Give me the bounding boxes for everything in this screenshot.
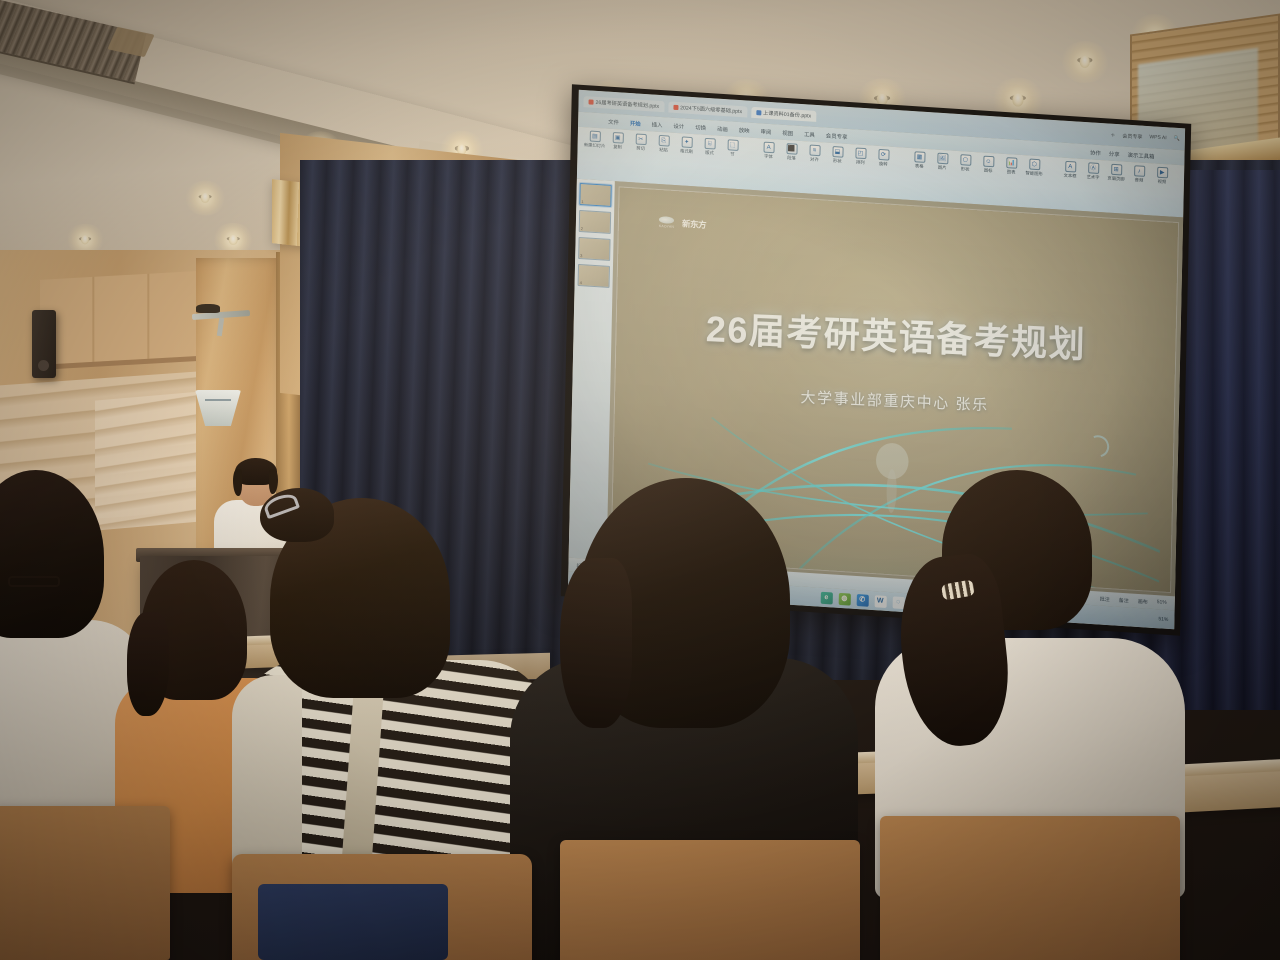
ribbon-button-label: 粘贴 bbox=[659, 147, 668, 154]
ribbon-icon: ⬛ bbox=[786, 143, 797, 155]
slide-logos: KAOYAN 新东方 bbox=[658, 216, 706, 231]
ribbon-button-0-6[interactable]: ⬚节 bbox=[722, 139, 742, 158]
slide-thumbnail-number: 4 bbox=[580, 280, 582, 285]
ribbon-icon: ▦ bbox=[914, 151, 925, 163]
ribbon-button-label: 字体 bbox=[764, 154, 773, 161]
ribbon-icon: ✦ bbox=[681, 136, 692, 148]
ribbon-button-label: 智能图形 bbox=[1025, 170, 1042, 177]
ribbon-button-0-2[interactable]: ✂剪切 bbox=[630, 133, 650, 152]
student-2-ponytail bbox=[127, 612, 169, 716]
wps-tab-0[interactable]: 26届考研英语备考规划.pptx bbox=[583, 96, 664, 112]
wps-tab-label: 2024下5面六级零基础.pptx bbox=[680, 104, 742, 115]
ribbon-button-label: 格式刷 bbox=[680, 148, 693, 155]
ribbon-button-1-4[interactable]: ◰排列 bbox=[850, 147, 870, 166]
ribbon-button-2-3[interactable]: ☺图标 bbox=[978, 155, 998, 174]
ribbon-icon: ⎘ bbox=[658, 135, 669, 147]
ribbon-tab-right-0[interactable]: 协作 bbox=[1090, 148, 1101, 157]
ribbon-button-3-0[interactable]: A文本框 bbox=[1060, 161, 1080, 180]
ribbon-button-label: 表格 bbox=[915, 163, 924, 170]
logo-secondary-text: 新东方 bbox=[682, 218, 706, 230]
slide-thumbnail-2[interactable]: 2 bbox=[579, 210, 611, 234]
ribbon-icon: A bbox=[1065, 161, 1076, 173]
wps-tab-1[interactable]: 2024下5面六级零基础.pptx bbox=[668, 101, 747, 117]
wps-tab-2[interactable]: 上课资料01备份.pptx bbox=[751, 106, 816, 121]
ribbon-button-label: 图片 bbox=[938, 165, 947, 172]
ribbon-tab-7[interactable]: 审阅 bbox=[760, 127, 771, 136]
ribbon-icon: ⬠ bbox=[960, 154, 971, 166]
ribbon-button-label: 新建幻灯片 bbox=[584, 142, 606, 149]
ribbon-icon: ⌸ bbox=[704, 138, 715, 150]
ribbon-button-1-0[interactable]: A字体 bbox=[758, 141, 778, 160]
ribbon-separator bbox=[1179, 170, 1180, 212]
ribbon-tab-1[interactable]: 开始 bbox=[630, 119, 641, 128]
ceiling-light-icon bbox=[185, 181, 225, 216]
ribbon-group-2: ▦表格🖼图片⬠形状☺图标📊图表⬡智能图形 bbox=[906, 151, 1047, 178]
lecture-hall-photo: 26届考研英语备考规划.pptx 2024下5面六级零基础.pptx 上课资料0… bbox=[0, 0, 1280, 960]
speaker-icon bbox=[32, 310, 56, 378]
ribbon-icon: ⬡ bbox=[1029, 159, 1040, 171]
slide-thumbnail-4[interactable]: 4 bbox=[578, 264, 610, 288]
ribbon-button-label: 版式 bbox=[705, 150, 714, 157]
ribbon-button-1-2[interactable]: ≡对齐 bbox=[804, 144, 824, 163]
ribbon-group-3: A文本框Ⓐ艺术字⊞页眉页脚♪音频▶视频 bbox=[1057, 160, 1175, 186]
ribbon-button-2-0[interactable]: ▦表格 bbox=[909, 151, 929, 170]
ribbon-icon: Ⓐ bbox=[1088, 162, 1099, 174]
ribbon-tab-2[interactable]: 插入 bbox=[652, 120, 663, 129]
wps-tab-label: 上课资料01备份.pptx bbox=[763, 109, 811, 119]
file-type-icon bbox=[756, 110, 761, 115]
ribbon-button-label: 图标 bbox=[984, 168, 993, 175]
ribbon-icon: ✂ bbox=[635, 133, 646, 145]
file-type-icon bbox=[589, 99, 594, 104]
ribbon-tab-4[interactable]: 切换 bbox=[695, 123, 706, 132]
ribbon-button-2-2[interactable]: ⬠形状 bbox=[955, 154, 975, 173]
slide-thumbnail-number: 2 bbox=[581, 226, 583, 231]
slide-thumbnail-number: 1 bbox=[581, 199, 583, 204]
ribbon-button-3-1[interactable]: Ⓐ艺术字 bbox=[1083, 162, 1103, 181]
ribbon-tabs-right: 协作分享演示工具箱 bbox=[1090, 148, 1155, 160]
ribbon-button-0-5[interactable]: ⌸版式 bbox=[699, 138, 719, 157]
ribbon-tab-3[interactable]: 设计 bbox=[673, 121, 684, 130]
ribbon-separator bbox=[750, 143, 751, 185]
ribbon-button-3-3[interactable]: ♪音频 bbox=[1129, 165, 1149, 184]
file-type-icon bbox=[673, 104, 678, 109]
ribbon-button-2-1[interactable]: 🖼图片 bbox=[932, 152, 952, 171]
ribbon-icon: ⟳ bbox=[878, 149, 889, 161]
ribbon-icon: ≡ bbox=[809, 144, 820, 156]
ribbon-icon: ▣ bbox=[612, 132, 623, 144]
student-3 bbox=[240, 490, 540, 910]
ribbon-icon: 📊 bbox=[1006, 157, 1017, 169]
search-icon[interactable]: 🔍 bbox=[1174, 136, 1180, 142]
ribbon-tab-8[interactable]: 视图 bbox=[782, 128, 793, 137]
ribbon-tab-right-2[interactable]: 演示工具箱 bbox=[1127, 150, 1154, 160]
ribbon-button-3-2[interactable]: ⊞页眉页脚 bbox=[1106, 163, 1126, 182]
chair-foreground-left bbox=[0, 806, 170, 960]
ribbon-button-label: 节 bbox=[730, 151, 734, 157]
ribbon-button-1-1[interactable]: ⬛段落 bbox=[781, 143, 801, 162]
ribbon-button-label: 艺术字 bbox=[1087, 174, 1100, 181]
ribbon-button-label: 对齐 bbox=[810, 157, 819, 164]
chair-foreground-center bbox=[560, 840, 860, 960]
ribbon-button-0-0[interactable]: ▤新建幻灯片 bbox=[585, 130, 605, 149]
student-1-hair bbox=[0, 470, 104, 638]
chair-cushion bbox=[258, 884, 448, 960]
ribbon-icon: ▤ bbox=[589, 130, 600, 142]
logo-primary-sub: KAOYAN bbox=[659, 224, 674, 229]
ribbon-tab-5[interactable]: 动画 bbox=[717, 124, 728, 133]
ribbon-button-label: 剪切 bbox=[636, 145, 645, 152]
ribbon-separator bbox=[1051, 162, 1052, 204]
ribbon-tab-right-1[interactable]: 分享 bbox=[1109, 149, 1120, 158]
ribbon-button-label: 文本框 bbox=[1064, 173, 1077, 180]
slide-thumbnail-1[interactable]: 1 bbox=[579, 183, 611, 207]
slide-thumbnail-3[interactable]: 3 bbox=[578, 237, 610, 261]
ribbon-icon: ▶ bbox=[1157, 167, 1168, 179]
student-4-hair-side bbox=[560, 558, 632, 728]
ribbon-button-label: 视频 bbox=[1158, 179, 1167, 186]
kaoyan-logo-icon: KAOYAN bbox=[658, 216, 675, 229]
wps-tabbar-right: ＋ 会员专享 WPS AI 🔍 bbox=[1110, 131, 1180, 142]
ribbon-icon: 🖼 bbox=[937, 153, 948, 165]
ribbon-group-1: A字体⬛段落≡对齐⬓形状◰排列⟳旋转 bbox=[755, 141, 896, 168]
ribbon-icon: ◰ bbox=[855, 147, 866, 159]
projector-icon bbox=[196, 304, 220, 313]
ribbon-button-label: 页眉页脚 bbox=[1107, 176, 1124, 183]
wechat-icon[interactable]: ✆ bbox=[856, 594, 868, 607]
ribbon-separator bbox=[901, 152, 902, 194]
ribbon-icon: A bbox=[763, 142, 774, 154]
ribbon-button-2-5[interactable]: ⬡智能图形 bbox=[1024, 158, 1044, 177]
wps-ai-label[interactable]: WPS AI bbox=[1149, 134, 1166, 141]
ceiling-light-icon bbox=[1061, 41, 1109, 83]
ribbon-tab-10[interactable]: 会员专享 bbox=[826, 131, 848, 140]
ribbon-icon: ⊞ bbox=[1111, 164, 1122, 176]
ribbon-button-label: 形状 bbox=[961, 166, 970, 173]
ribbon-button-3-4[interactable]: ▶视频 bbox=[1152, 166, 1172, 185]
ribbon-tab-9[interactable]: 工具 bbox=[804, 130, 815, 139]
ribbon-button-label: 图表 bbox=[1007, 169, 1016, 176]
chair-foreground-right bbox=[880, 816, 1180, 960]
xindongfang-logo-icon: 新东方 bbox=[682, 219, 706, 229]
ribbon-icon: ☺ bbox=[983, 156, 994, 168]
member-label[interactable]: 会员专享 bbox=[1122, 132, 1142, 140]
ribbon-button-0-3[interactable]: ⎘粘贴 bbox=[653, 135, 673, 154]
ribbon-button-label: 复制 bbox=[613, 144, 622, 151]
ribbon-button-1-3[interactable]: ⬓形状 bbox=[827, 146, 847, 165]
ribbon-button-label: 段落 bbox=[787, 155, 796, 162]
wps-tab-label: 26届考研英语备考规划.pptx bbox=[595, 98, 659, 109]
ribbon-button-label: 形状 bbox=[833, 158, 842, 165]
ribbon-button-label: 音频 bbox=[1135, 177, 1144, 184]
plus-icon[interactable]: ＋ bbox=[1110, 131, 1115, 138]
ribbon-button-0-1[interactable]: ▣复制 bbox=[608, 132, 628, 151]
ribbon-icon: ⬚ bbox=[727, 139, 738, 151]
ribbon-button-0-4[interactable]: ✦格式刷 bbox=[676, 136, 696, 155]
ribbon-button-label: 旋转 bbox=[879, 161, 888, 168]
ribbon-button-1-5[interactable]: ⟳旋转 bbox=[873, 149, 893, 168]
ribbon-tab-6[interactable]: 放映 bbox=[739, 125, 750, 134]
ribbon-icon: ♪ bbox=[1134, 165, 1145, 177]
slide-title: 26届考研英语备考规划 bbox=[616, 308, 1175, 368]
ribbon-tab-0[interactable]: 文件 bbox=[608, 117, 619, 126]
glasses-icon bbox=[8, 576, 60, 587]
ribbon-button-2-4[interactable]: 📊图表 bbox=[1001, 157, 1021, 176]
ribbon-button-label: 排列 bbox=[856, 159, 865, 166]
slide-thumbnail-number: 3 bbox=[580, 253, 582, 258]
ribbon-icon: ⬓ bbox=[832, 146, 843, 158]
